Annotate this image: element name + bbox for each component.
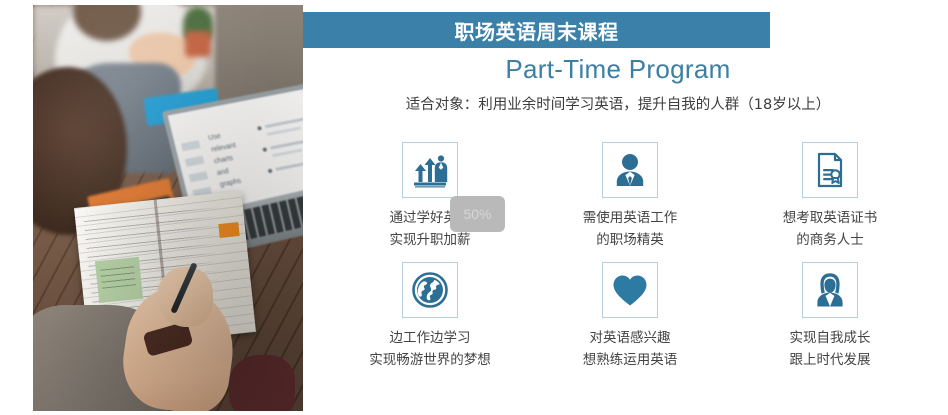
career-growth-icon-box <box>402 142 458 198</box>
slide-canvas: Use relevant charts and graphs <box>0 0 948 415</box>
slide-content: 职场英语周末课程 Part-Time Program 适合对象：利用业余时间学习… <box>303 0 948 415</box>
benefit-label-line-1: 想考取英语证书 <box>783 207 878 229</box>
benefit-label: 需使用英语工作 的职场精英 <box>583 207 678 251</box>
businesswoman-icon <box>810 270 850 310</box>
benefits-row: 通过学好英语 实现升职加薪 <box>330 142 930 251</box>
page-title: 职场英语周末课程 <box>455 16 619 45</box>
benefit-label: 对英语感兴趣 想熟练运用英语 <box>583 327 678 371</box>
businessman-icon <box>610 150 650 190</box>
benefit-label-line-1: 边工作边学习 <box>369 327 491 349</box>
benefit-label-line-1: 实现自我成长 <box>790 327 871 349</box>
heart-icon <box>610 270 650 310</box>
benefit-label-line-2: 跟上时代发展 <box>790 349 871 371</box>
benefit-label-line-2: 的商务人士 <box>783 229 878 251</box>
benefit-label-line-2: 实现升职加薪 <box>390 229 471 251</box>
laptop-text-line-1: Use <box>207 132 221 143</box>
heart-icon-box <box>602 262 658 318</box>
laptop-text-line-4: and <box>216 167 230 178</box>
benefits-row: 边工作边学习 实现畅游世界的梦想 对英语感兴趣 想熟练运用英语 <box>330 262 930 371</box>
program-subtitle-en: Part-Time Program <box>303 54 933 85</box>
benefit-label-line-2: 想熟练运用英语 <box>583 349 678 371</box>
laptop-text-line-5: graphs <box>219 177 242 190</box>
benefit-cell-interest: 对英语感兴趣 想熟练运用英语 <box>530 262 730 371</box>
benefit-cell-business-elite: 需使用英语工作 的职场精英 <box>530 142 730 251</box>
benefit-label: 边工作边学习 实现畅游世界的梦想 <box>369 327 491 371</box>
certificate-document-icon <box>810 150 850 190</box>
career-growth-icon <box>410 150 450 190</box>
benefit-label-line-2: 的职场精英 <box>583 229 678 251</box>
globe-icon <box>410 270 450 310</box>
laptop-text-line-3: charts <box>213 154 234 166</box>
laptop-text-line-2: relevant <box>210 141 237 154</box>
benefit-label-line-2: 实现畅游世界的梦想 <box>369 349 491 371</box>
benefit-label-line-1: 需使用英语工作 <box>583 207 678 229</box>
benefit-label: 实现自我成长 跟上时代发展 <box>790 327 871 371</box>
globe-icon-box <box>402 262 458 318</box>
title-banner: 职场英语周末课程 <box>303 12 770 48</box>
businessman-icon-box <box>602 142 658 198</box>
benefit-cell-self-growth: 实现自我成长 跟上时代发展 <box>730 262 930 371</box>
benefits-grid: 通过学好英语 实现升职加薪 <box>330 142 930 371</box>
benefit-label: 想考取英语证书 的商务人士 <box>783 207 878 251</box>
certificate-document-icon-box <box>802 142 858 198</box>
students-studying-at-desk-photo: Use relevant charts and graphs <box>33 5 303 411</box>
zoom-level-badge[interactable]: 50% <box>450 196 505 232</box>
benefit-label-line-1: 对英语感兴趣 <box>583 327 678 349</box>
benefit-cell-certificate: 想考取英语证书 的商务人士 <box>730 142 930 251</box>
businesswoman-icon-box <box>802 262 858 318</box>
audience-description: 适合对象：利用业余时间学习英语，提升自我的人群（18岁以上） <box>303 93 933 114</box>
benefit-cell-travel-world: 边工作边学习 实现畅游世界的梦想 <box>330 262 530 371</box>
